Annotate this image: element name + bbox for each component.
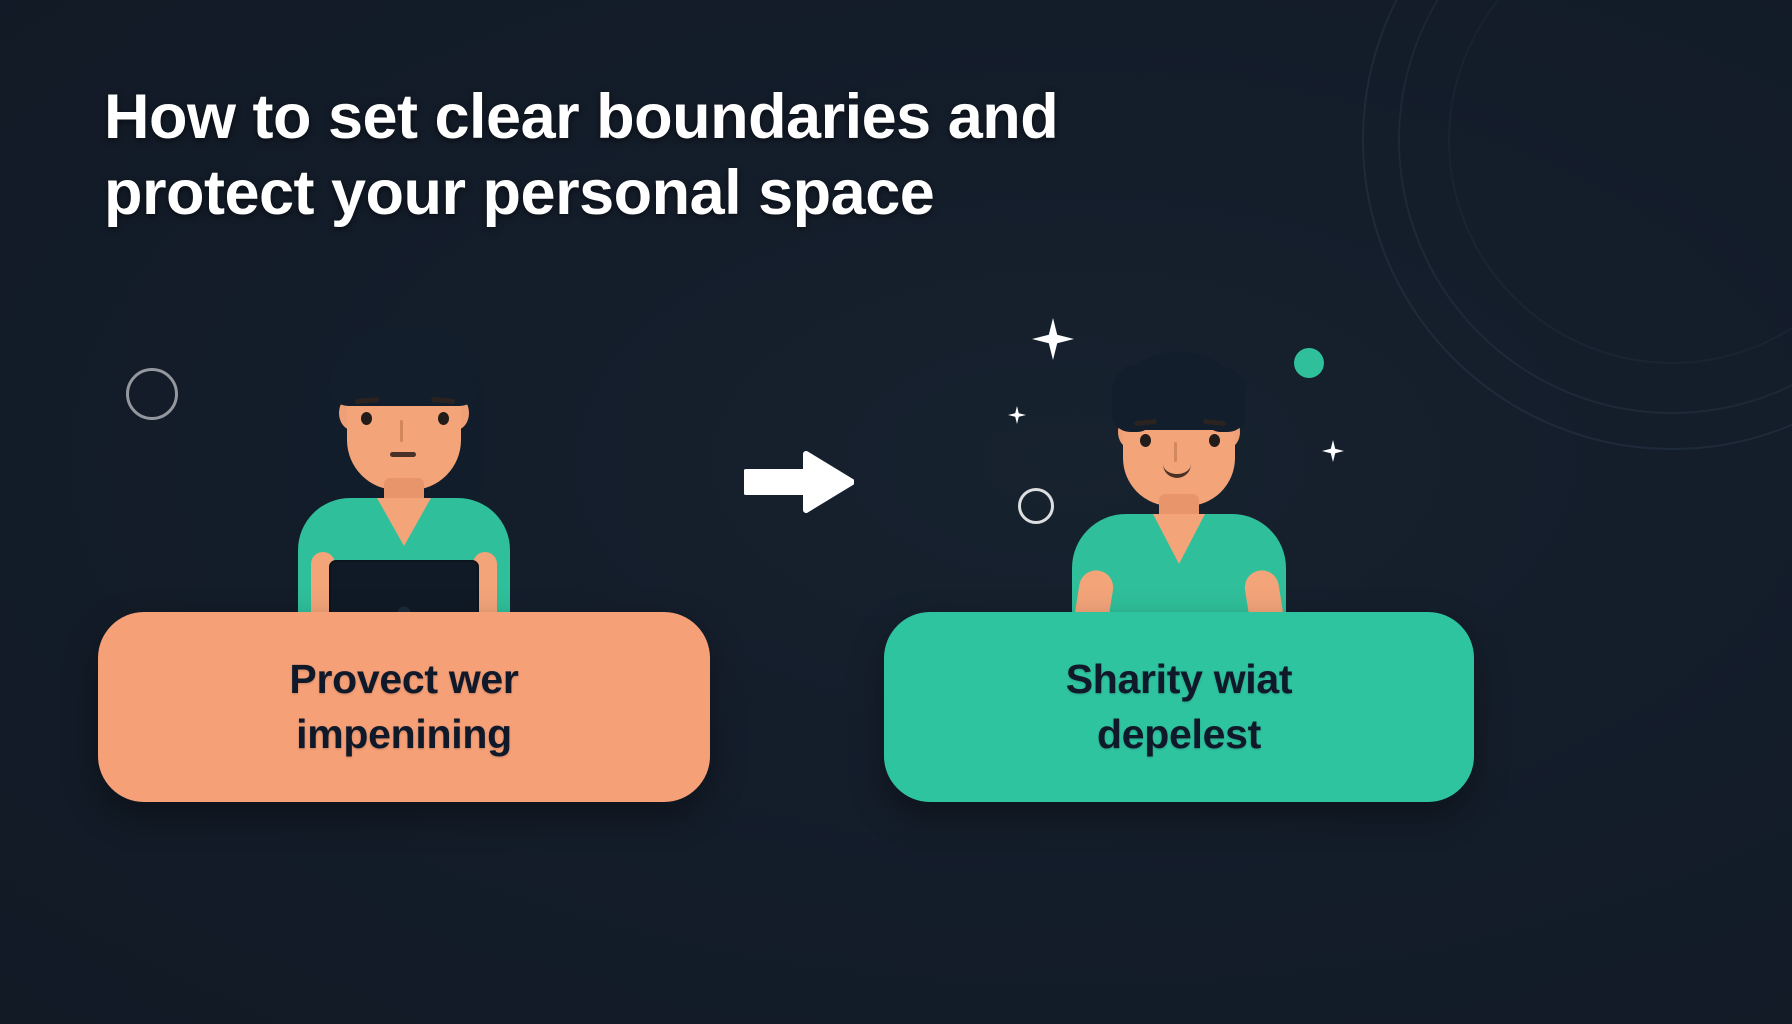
eye-right — [438, 412, 449, 425]
illustration-woman-with-laptop — [289, 320, 519, 650]
eye-left — [1140, 434, 1151, 447]
hair-fringe — [343, 338, 433, 399]
eye-left — [361, 412, 372, 425]
left-card-line1: Provect wer — [289, 652, 518, 707]
sparkle-small-icon — [1008, 406, 1026, 424]
right-card-line2: depelest — [1066, 707, 1293, 762]
mouth — [390, 452, 416, 457]
ring-outline-icon — [126, 368, 178, 420]
right-card-text: Sharity wiat depelest — [1066, 652, 1293, 761]
teal-dot-icon — [1294, 348, 1324, 378]
left-card-text: Provect wer impenining — [289, 652, 518, 761]
right-card[interactable]: Sharity wiat depelest — [884, 612, 1474, 802]
right-panel: Sharity wiat depelest — [884, 300, 1474, 860]
hair-fringe — [1125, 361, 1202, 410]
ring-outline-icon — [1018, 488, 1054, 524]
arrow-right-icon — [744, 446, 854, 518]
arc-inner — [1448, 0, 1792, 364]
nose — [400, 420, 403, 442]
right-card-line1: Sharity wiat — [1066, 652, 1293, 707]
left-card-line2: impenining — [289, 707, 518, 762]
nose — [1174, 442, 1177, 462]
infographic-canvas: How to set clear boundaries and protect … — [0, 0, 1792, 1024]
left-card[interactable]: Provect wer impenining — [98, 612, 710, 802]
sparkle-tiny-icon — [1322, 440, 1344, 462]
eye-right — [1209, 434, 1220, 447]
left-panel: Provect wer impenining — [98, 300, 710, 860]
page-title: How to set clear boundaries and protect … — [104, 80, 1284, 231]
